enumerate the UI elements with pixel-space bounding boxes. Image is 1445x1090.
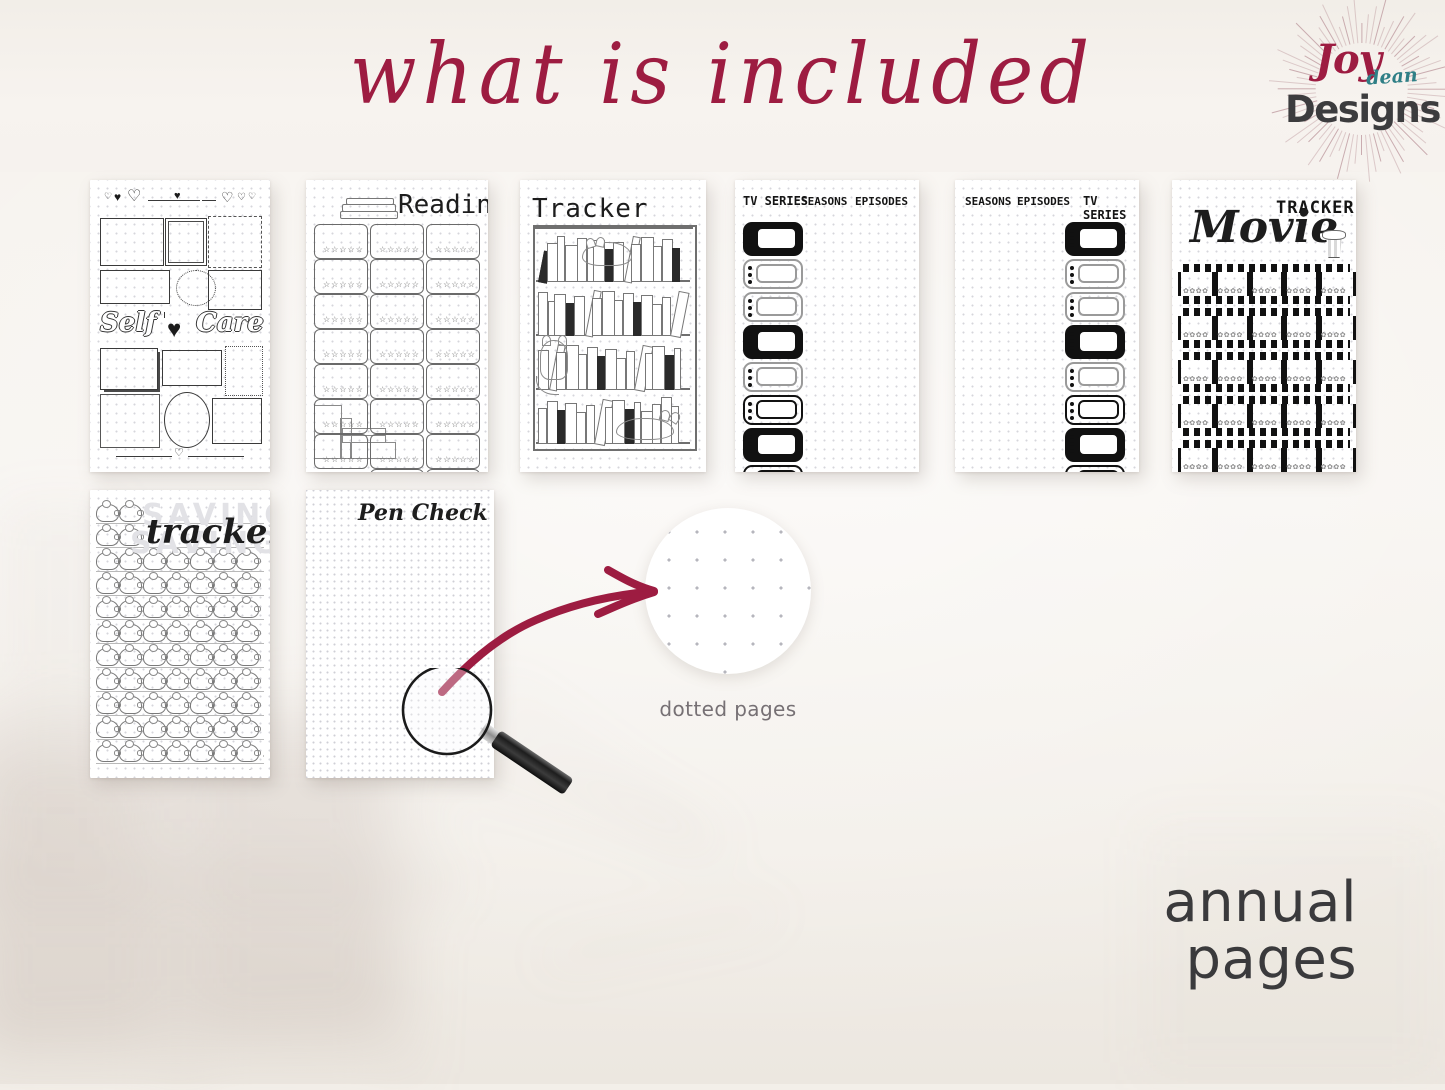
film-perforation-bar	[1178, 384, 1350, 392]
tv-icon-column-right	[955, 180, 1139, 472]
star-rating: ☆☆☆☆☆	[435, 245, 476, 254]
star-rating: ☆☆☆☆☆	[379, 455, 420, 464]
star-rating: ☆☆☆☆☆	[323, 350, 364, 359]
savings-title-script: tracker	[146, 512, 270, 552]
tv-icon	[743, 292, 803, 322]
tv-icon	[1065, 465, 1125, 472]
film-perforation-bar	[1178, 352, 1350, 360]
tv-icon	[743, 362, 803, 392]
popcorn-rating: ✿✿✿✿	[1321, 463, 1346, 471]
tv-icon	[1065, 362, 1125, 392]
popcorn-rating: ✿✿✿✿	[1252, 375, 1277, 383]
reading-boxes-grid: ☆☆☆☆☆☆☆☆☆☆☆☆☆☆☆☆☆☆☆☆☆☆☆☆☆☆☆☆☆☆☆☆☆☆☆☆☆☆☆☆…	[306, 180, 488, 472]
page-header: what is included Joy dean Designs	[0, 0, 1445, 172]
self-care-title-left: Self	[100, 308, 156, 338]
magnifying-glass-icon	[392, 668, 602, 798]
bookshelf-cats	[520, 180, 706, 472]
dotted-pages-label: dotted pages	[600, 697, 856, 721]
popcorn-rating: ✿✿✿✿	[1252, 331, 1277, 339]
star-rating: ☆☆☆☆☆	[435, 455, 476, 464]
page-card-bookshelf-tracker[interactable]: Tracker	[520, 180, 706, 472]
popcorn-rating: ✿✿✿✿	[1183, 331, 1208, 339]
tv-icon	[743, 325, 803, 359]
star-rating: ☆☆☆☆☆	[323, 385, 364, 394]
star-rating: ☆☆☆☆☆	[379, 385, 420, 394]
popcorn-rating: ✿✿✿✿	[1321, 375, 1346, 383]
film-perforation-bar	[1178, 296, 1350, 304]
film-perforation-bar	[1178, 440, 1350, 448]
popcorn-rating: ✿✿✿✿	[1217, 463, 1242, 471]
popcorn-rating: ✿✿✿✿	[1286, 287, 1311, 295]
popcorn-rating: ✿✿✿✿	[1321, 287, 1346, 295]
popcorn-rating: ✿✿✿✿	[1286, 375, 1311, 383]
tv-icon	[743, 428, 803, 462]
annual-pages-caption: annual pages	[1163, 874, 1357, 988]
popcorn-rating: ✿✿✿✿	[1286, 463, 1311, 471]
film-perforation-bar	[1178, 340, 1350, 348]
popcorn-rating: ✿✿✿✿	[1321, 331, 1346, 339]
star-rating: ☆☆☆☆☆	[435, 350, 476, 359]
pen-check-title: Pen Check	[358, 500, 488, 526]
film-perforation-bar	[1178, 428, 1350, 436]
tv-icon	[1065, 222, 1125, 256]
reading-entry-box[interactable]	[370, 469, 424, 472]
page-card-self-care[interactable]: ♡ ♥ ♡ ♥ ♡ ♡ ♡ Self ♥ Care ♡	[90, 180, 270, 472]
tv-icon	[743, 465, 803, 472]
annual-line-1: annual	[1163, 870, 1357, 935]
star-rating: ☆☆☆☆☆	[323, 455, 364, 464]
star-rating: ☆☆☆☆☆	[379, 245, 420, 254]
star-rating: ☆☆☆☆☆	[435, 315, 476, 324]
popcorn-rating: ✿✿✿✿	[1252, 287, 1277, 295]
brand-logo: Joy dean Designs	[1285, 14, 1437, 164]
popcorn-rating: ✿✿✿✿	[1183, 419, 1208, 427]
tv-icon-column-left	[735, 180, 919, 472]
star-rating: ☆☆☆☆☆	[435, 280, 476, 289]
popcorn-rating: ✿✿✿✿	[1286, 331, 1311, 339]
popcorn-rating: ✿✿✿✿	[1217, 331, 1242, 339]
reading-entry-box[interactable]	[426, 469, 480, 472]
page-card-tv-series-left[interactable]: TV SERIES SEASONS EPISODES	[735, 180, 919, 472]
film-perforation-bar	[1178, 264, 1350, 272]
popcorn-rating: ✿✿✿✿	[1183, 463, 1208, 471]
popcorn-rating: ✿✿✿✿	[1286, 419, 1311, 427]
popcorn-rating: ✿✿✿✿	[1217, 287, 1242, 295]
page-card-tv-series-right[interactable]: SEASONS EPISODES TV SERIES	[955, 180, 1139, 472]
star-rating: ☆☆☆☆☆	[323, 315, 364, 324]
page-title: what is included	[0, 26, 1445, 123]
tv-icon	[1065, 395, 1125, 425]
tv-icon	[1065, 259, 1125, 289]
popcorn-rating: ✿✿✿✿	[1183, 287, 1208, 295]
tv-icon	[743, 222, 803, 256]
film-strip-rows: ✿✿✿✿✿✿✿✿✿✿✿✿✿✿✿✿✿✿✿✿✿✿✿✿✿✿✿✿✿✿✿✿✿✿✿✿✿✿✿✿…	[1172, 180, 1356, 472]
star-rating: ☆☆☆☆☆	[379, 350, 420, 359]
page-card-savings-tracker[interactable]: SAVINGS SAVINGS tracker	[90, 490, 270, 778]
popcorn-rating: ✿✿✿✿	[1217, 419, 1242, 427]
star-rating: ☆☆☆☆☆	[323, 245, 364, 254]
tv-icon	[743, 395, 803, 425]
popcorn-rating: ✿✿✿✿	[1252, 463, 1277, 471]
page-card-reading[interactable]: Reading ☆☆☆☆☆☆☆☆☆☆☆☆☆☆☆☆☆☆☆☆☆☆☆☆☆☆☆☆☆☆☆☆…	[306, 180, 488, 472]
self-care-title-right: Care	[196, 308, 264, 338]
star-rating: ☆☆☆☆☆	[379, 420, 420, 429]
tv-icon	[1065, 325, 1125, 359]
star-rating: ☆☆☆☆☆	[379, 315, 420, 324]
film-perforation-bar	[1178, 308, 1350, 316]
tv-icon	[1065, 428, 1125, 462]
popcorn-rating: ✿✿✿✿	[1217, 375, 1242, 383]
star-rating: ☆☆☆☆☆	[379, 280, 420, 289]
star-rating: ☆☆☆☆☆	[323, 280, 364, 289]
page-card-movie-tracker[interactable]: TRACKER Movie ✿✿✿✿✿✿✿✿✿✿✿✿✿✿✿✿✿✿✿✿✿✿✿✿✿✿…	[1172, 180, 1356, 472]
annual-line-2: pages	[1163, 931, 1357, 988]
star-rating: ☆☆☆☆☆	[435, 420, 476, 429]
film-perforation-bar	[1178, 396, 1350, 404]
tv-icon	[743, 259, 803, 289]
popcorn-rating: ✿✿✿✿	[1321, 419, 1346, 427]
popcorn-rating: ✿✿✿✿	[1183, 375, 1208, 383]
star-rating: ☆☆☆☆☆	[323, 420, 364, 429]
savings-title-block: SAVINGS SAVINGS tracker	[90, 490, 270, 778]
tv-icon	[1065, 292, 1125, 322]
popcorn-rating: ✿✿✿✿	[1252, 419, 1277, 427]
logo-designs-text: Designs	[1285, 88, 1437, 131]
self-care-artwork: ♡ ♥ ♡ ♥ ♡ ♡ ♡ Self ♥ Care ♡	[90, 180, 270, 472]
star-rating: ☆☆☆☆☆	[435, 385, 476, 394]
